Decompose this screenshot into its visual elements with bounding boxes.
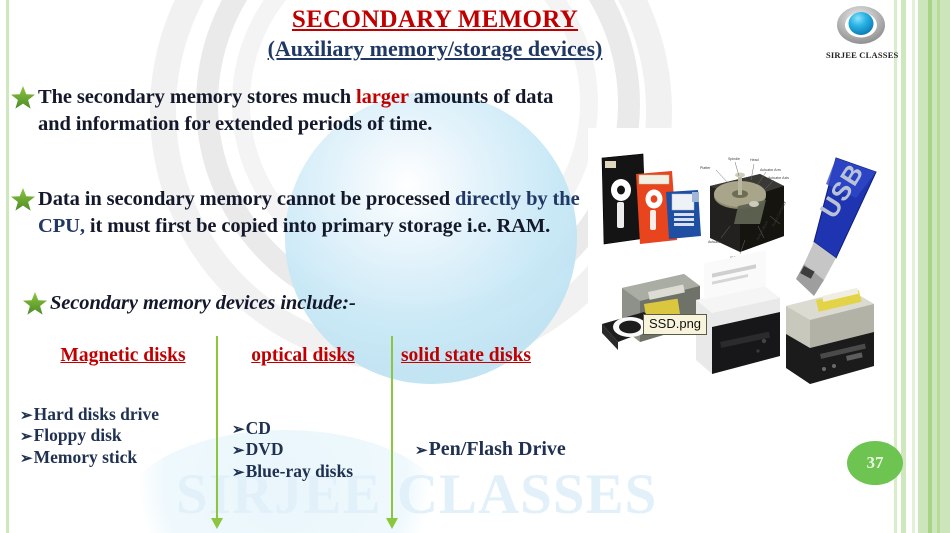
svg-text:Actuator Arm: Actuator Arm <box>760 168 781 172</box>
list-magnetic-disks: ➢Hard disks drive➢Floppy disk➢Memory sti… <box>20 404 159 468</box>
bullet-item-1: The secondary memory stores much larger … <box>10 84 580 137</box>
arrow-bullet-icon: ➢ <box>20 451 33 467</box>
svg-text:Head: Head <box>750 158 759 162</box>
bullet-text-segment: larger <box>356 86 409 108</box>
brand-logo: SIRJEE CLASSES <box>826 4 896 60</box>
bullet-item-3: Secondary memory devices include:- <box>22 290 492 317</box>
svg-text:Spindle: Spindle <box>728 157 740 161</box>
list-item: ➢Floppy disk <box>20 425 159 446</box>
arrow-bullet-icon: ➢ <box>232 443 245 459</box>
arrow-bullet-icon: ➢ <box>232 422 245 438</box>
bullet-text-segment: Data in secondary memory cannot be proce… <box>38 188 455 210</box>
page-subtitle: (Auxiliary memory/storage devices) <box>0 36 870 62</box>
decorative-stripe <box>912 0 915 533</box>
floppy-35 <box>666 190 701 239</box>
svg-text:Actuator Axis: Actuator Axis <box>768 176 789 180</box>
page-title: SECONDARY MEMORY <box>0 6 870 34</box>
bullet-text-segment: it must first be copied into primary sto… <box>85 215 550 237</box>
svg-text:Actuator: Actuator <box>708 240 722 244</box>
decorative-stripe <box>901 0 906 533</box>
column-heading-solid-state: solid state disks <box>396 344 536 368</box>
logo-eye-icon <box>834 4 888 48</box>
list-item: ➢Hard disks drive <box>20 404 159 425</box>
bullet-text-segment: Secondary memory devices include:- <box>50 292 356 314</box>
bullet-text-segment: The secondary memory stores much <box>38 86 356 108</box>
list-item: ➢CD <box>232 418 353 439</box>
decorative-stripe <box>940 0 950 533</box>
arrow-bullet-icon: ➢ <box>20 408 33 424</box>
column-divider-1 <box>216 336 218 520</box>
column-heading-optical: optical disks <box>228 344 378 368</box>
list-solid-state-disks: ➢Pen/Flash Drive <box>415 437 566 461</box>
slide-canvas: SIRJEE CLASSES SECONDARY MEMORY (Auxilia… <box>0 0 950 533</box>
slide-title-block: SECONDARY MEMORY (Auxiliary memory/stora… <box>0 6 870 62</box>
list-item-label: Pen/Flash Drive <box>429 438 566 460</box>
arrow-bullet-icon: ➢ <box>232 465 245 481</box>
divider-arrow-2-icon <box>386 518 398 529</box>
column-heading-magnetic: Magnetic disks <box>30 344 216 368</box>
logo-caption: SIRJEE CLASSES <box>826 50 896 60</box>
list-item-label: Floppy disk <box>34 425 122 445</box>
star-bullet-icon <box>22 291 48 317</box>
right-stripe-band <box>892 0 950 533</box>
list-item-label: Hard disks drive <box>34 404 159 424</box>
column-divider-2 <box>391 336 393 520</box>
star-bullet-icon <box>10 187 36 213</box>
list-optical-disks: ➢CD➢DVD➢Blue-ray disks <box>232 418 353 482</box>
bullet-text-2: Data in secondary memory cannot be proce… <box>38 186 590 239</box>
bullet-item-2: Data in secondary memory cannot be proce… <box>10 186 590 239</box>
list-item: ➢Memory stick <box>20 447 159 468</box>
left-border-rule <box>6 0 9 533</box>
list-item: ➢DVD <box>232 439 353 460</box>
list-item-label: DVD <box>246 439 284 459</box>
star-bullet-icon <box>10 85 36 111</box>
file-tooltip: SSD.png <box>643 314 707 335</box>
arrow-bullet-icon: ➢ <box>20 429 33 445</box>
divider-arrow-1-icon <box>211 518 223 529</box>
storage-devices-image: Platter Spindle Head Actuator Arm Actuat… <box>588 128 891 393</box>
bullet-text-1: The secondary memory stores much larger … <box>38 84 580 137</box>
page-number-badge: 37 <box>847 441 903 485</box>
list-item: ➢Pen/Flash Drive <box>415 437 566 461</box>
list-item-label: Memory stick <box>34 447 138 467</box>
bullet-text-3: Secondary memory devices include:- <box>50 290 356 317</box>
arrow-bullet-icon: ➢ <box>415 443 428 459</box>
decorative-stripe <box>918 0 928 533</box>
svg-text:Platter: Platter <box>700 166 711 170</box>
list-item-label: CD <box>246 418 271 438</box>
list-item-label: Blue-ray disks <box>246 461 353 481</box>
list-item: ➢Blue-ray disks <box>232 461 353 482</box>
